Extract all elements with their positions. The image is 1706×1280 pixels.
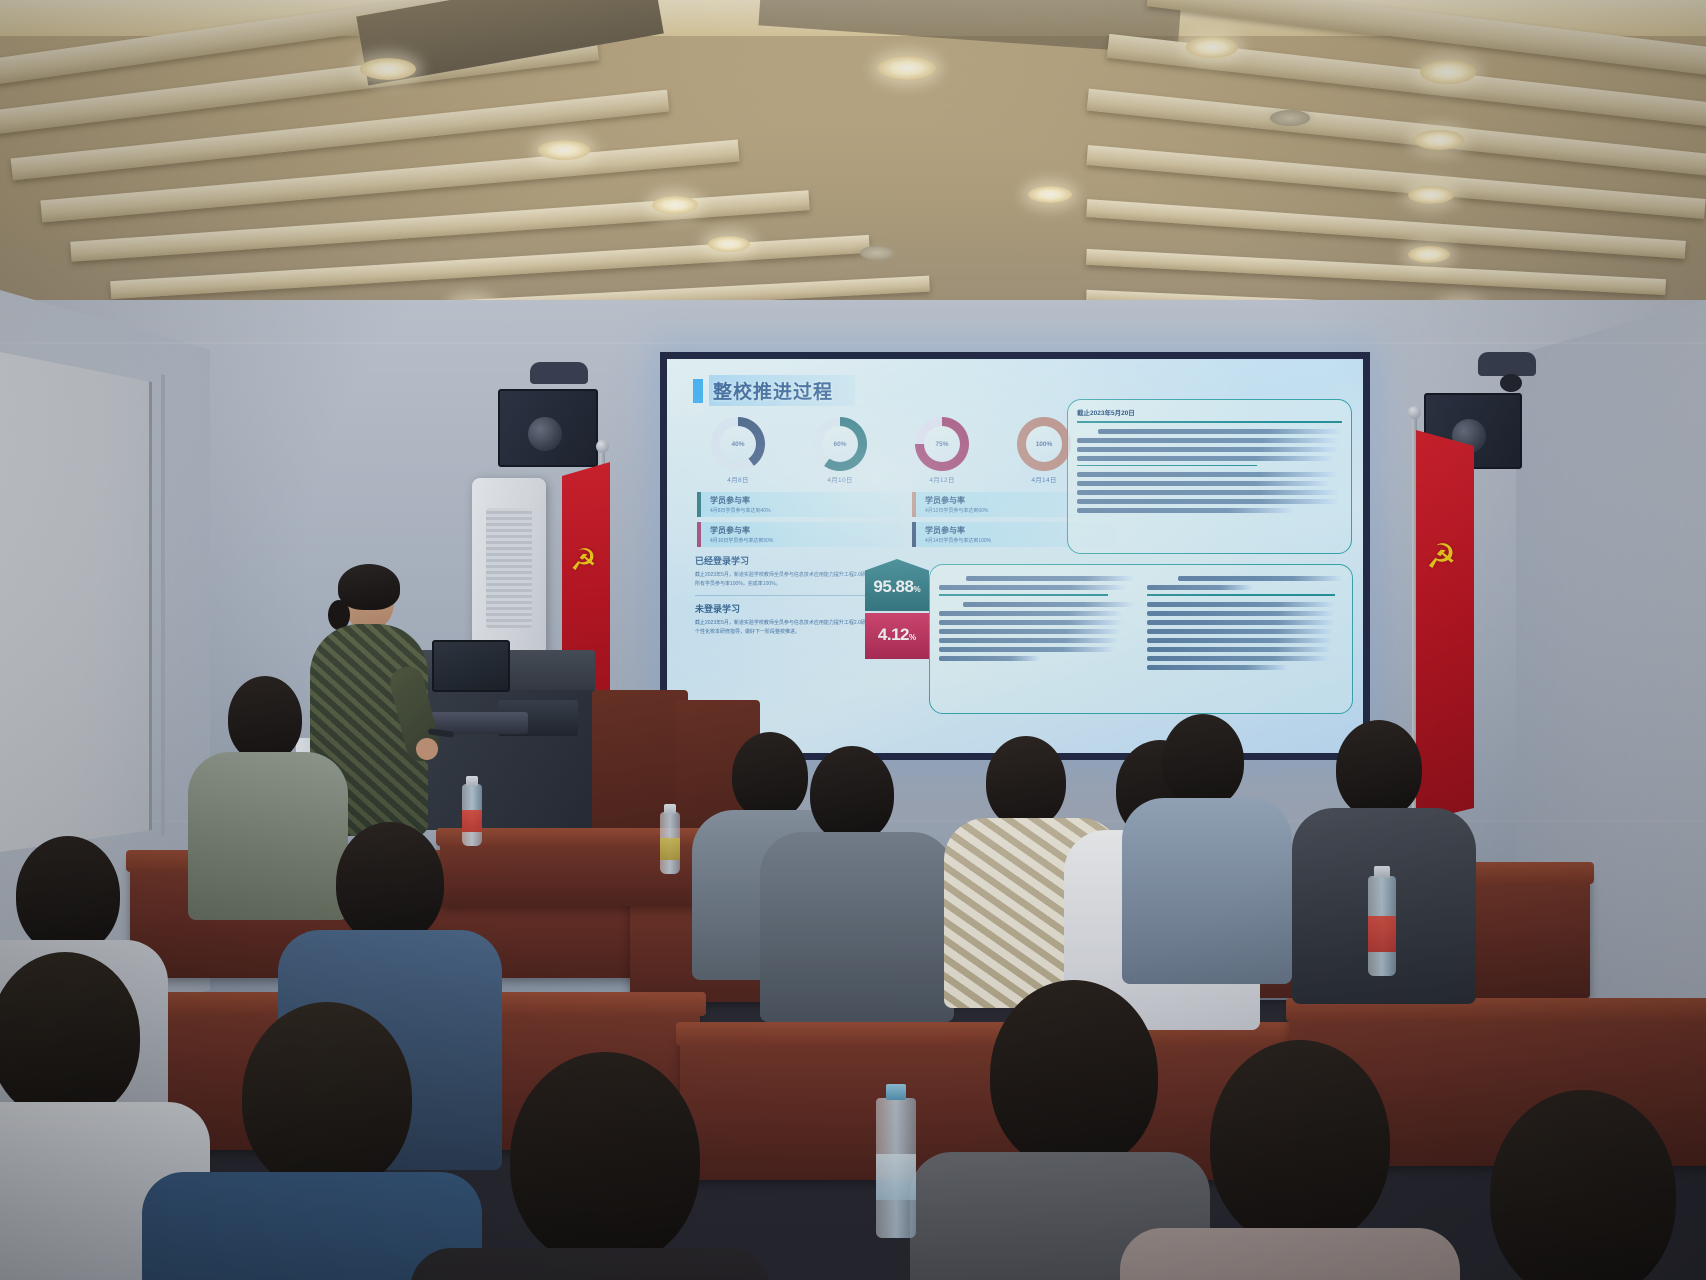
bottle-label (876, 1154, 916, 1200)
title-accent-bar (693, 379, 703, 403)
donut-date: 4月8日 (701, 474, 775, 484)
donut-date: 4月12日 (905, 474, 979, 484)
water-bottle (876, 1098, 916, 1238)
note-body: 刘军、周梅、张静、严丹娅、杜会、张爱、牛志刚、田美丽、丁永霞、胡光仕、刘远连、谭… (939, 665, 1135, 677)
page-title: 整校推进过程 (709, 375, 855, 406)
party-flag-right: ☭ (1416, 430, 1474, 822)
participation-box: 学员参与率 4月8日学员参与率达到40% (697, 492, 902, 517)
participation-sub: 4月8日学员参与率达到40% (710, 507, 898, 514)
bottle-cap (466, 776, 478, 786)
presentation-slide: 整校推进过程 40% 4月8日 60% 4月10日 (667, 359, 1363, 753)
donut-value: 100% (1036, 441, 1053, 448)
water-bottle (1368, 876, 1396, 976)
camera-left (530, 362, 588, 384)
note-body: 赵秋霞、周娜、聂晓慧、陈静初、杨北平、周伟伟、爱青、杨红、王燕娟、王娟、徐爱莲、… (1147, 674, 1343, 698)
donut-date: 4月10日 (803, 474, 877, 484)
participation-row: 学员参与率 4月8日学员参与率达到40% 学员参与率 4月12日学员参与率达到6… (697, 492, 1117, 517)
water-bottle (660, 812, 680, 874)
participation-title: 学员参与率 (710, 525, 898, 536)
note-bottom: 刘军、周梅、张静、严丹娅、杜会、张爱、牛志刚、田美丽、丁永霞、胡光仕、刘远连、谭… (929, 564, 1353, 714)
donut-value: 40% (731, 441, 744, 448)
note-bottom-left-col: 刘军、周梅、张静、严丹娅、杜会、张爱、牛志刚、田美丽、丁永霞、胡光仕、刘远连、谭… (939, 572, 1135, 698)
room-door[interactable] (0, 352, 152, 852)
donut-value: 75% (935, 441, 948, 448)
ceiling-speaker-left (498, 389, 598, 467)
participation-row: 学员参与率 4月10日学员参与率达到50% 学员参与率 4月14日学员参与率达到… (697, 522, 1117, 547)
donut-chart: 40% (711, 417, 765, 471)
camera-right (1478, 352, 1536, 376)
bottle-label (462, 810, 482, 832)
note-top: 截止2023年5月20日 2023年度遴选县信息技术应用能力提升工程2.0培训（… (1067, 399, 1352, 554)
flag-finial-left (596, 440, 609, 453)
bottle-cap (1374, 866, 1390, 878)
participation-grid: 学员参与率 4月8日学员参与率达到40% 学员参与率 4月12日学员参与率达到6… (697, 492, 1117, 552)
bottle-cap (664, 804, 676, 814)
badge-unit: % (909, 633, 916, 642)
bottle-cap (886, 1084, 906, 1100)
slide-title-group: 整校推进过程 (693, 375, 855, 406)
camera-lens-right (1500, 374, 1522, 392)
donut-cell: 75% 4月12日 (905, 417, 979, 484)
note-bottom-right-col: 赵秋霞、周娜、聂晓慧、陈静初、杨北平、周伟伟、爱青、杨红、王燕娟、王娟、徐爱莲、… (1147, 572, 1343, 698)
donut-cell: 60% 4月10日 (803, 417, 877, 484)
presenter-hand (416, 738, 438, 760)
projector-screen[interactable]: 整校推进过程 40% 4月8日 60% 4月10日 (660, 352, 1370, 760)
donut-chart: 60% (813, 417, 867, 471)
participation-box: 学员参与率 4月10日学员参与率达到50% (697, 522, 902, 547)
flag-emblem-left: ☭ (570, 546, 597, 576)
participation-sub: 4月10日学员参与率达到50% (710, 537, 898, 544)
flag-finial-right (1408, 406, 1421, 419)
status-badge: 4.12% (865, 613, 929, 659)
presenter-hair (338, 564, 400, 610)
donut-chart-row: 40% 4月8日 60% 4月10日 75% 4月12日 (701, 417, 1081, 487)
badge-unit: % (913, 585, 920, 594)
donut-chart: 100% (1017, 417, 1071, 471)
water-bottle (462, 784, 482, 846)
badge-value: 4.12 (878, 625, 909, 644)
ac-grill (486, 508, 532, 628)
note-body: 2023年度遴选县信息技术应用能力提升工程2.0培训（新道实验学校教育集团校），… (1077, 416, 1344, 549)
meeting-room-photo: 整校推进过程 40% 4月8日 60% 4月10日 (0, 0, 1706, 1280)
monitor (432, 640, 510, 692)
donut-chart: 75% (915, 417, 969, 471)
bottle-label (1368, 916, 1396, 952)
badge-value: 95.88 (873, 577, 913, 596)
donut-value: 60% (833, 441, 846, 448)
bottle-label (660, 838, 680, 860)
donut-cell: 40% 4月8日 (701, 417, 775, 484)
participation-title: 学员参与率 (710, 495, 898, 506)
flag-emblem-right: ☭ (1426, 540, 1456, 574)
